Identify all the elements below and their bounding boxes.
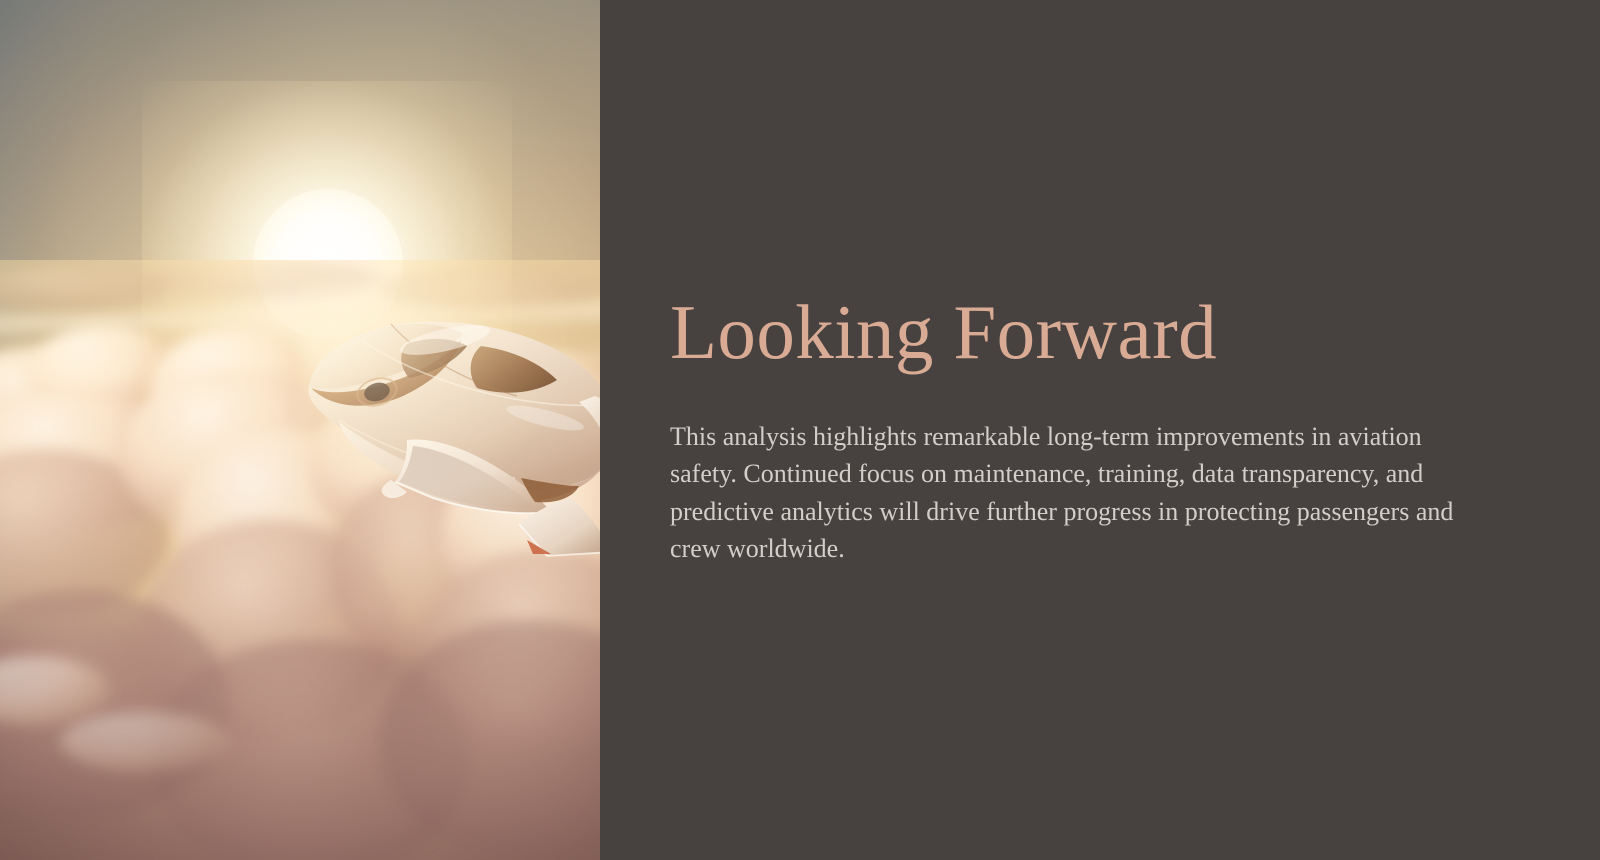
cloud-puff — [380, 270, 600, 310]
slide-body-text: This analysis highlights remarkable long… — [670, 418, 1460, 568]
slide-root: Looking Forward This analysis highlights… — [0, 0, 1600, 860]
text-block: Looking Forward This analysis highlights… — [670, 292, 1460, 568]
hero-image-panel — [0, 0, 600, 860]
cloud-puff — [60, 712, 230, 772]
cloud-puff — [0, 266, 170, 308]
cloud-field — [0, 260, 600, 860]
content-panel: Looking Forward This analysis highlights… — [600, 0, 1600, 860]
slide-title: Looking Forward — [670, 292, 1460, 374]
cloud-puff — [150, 260, 380, 298]
